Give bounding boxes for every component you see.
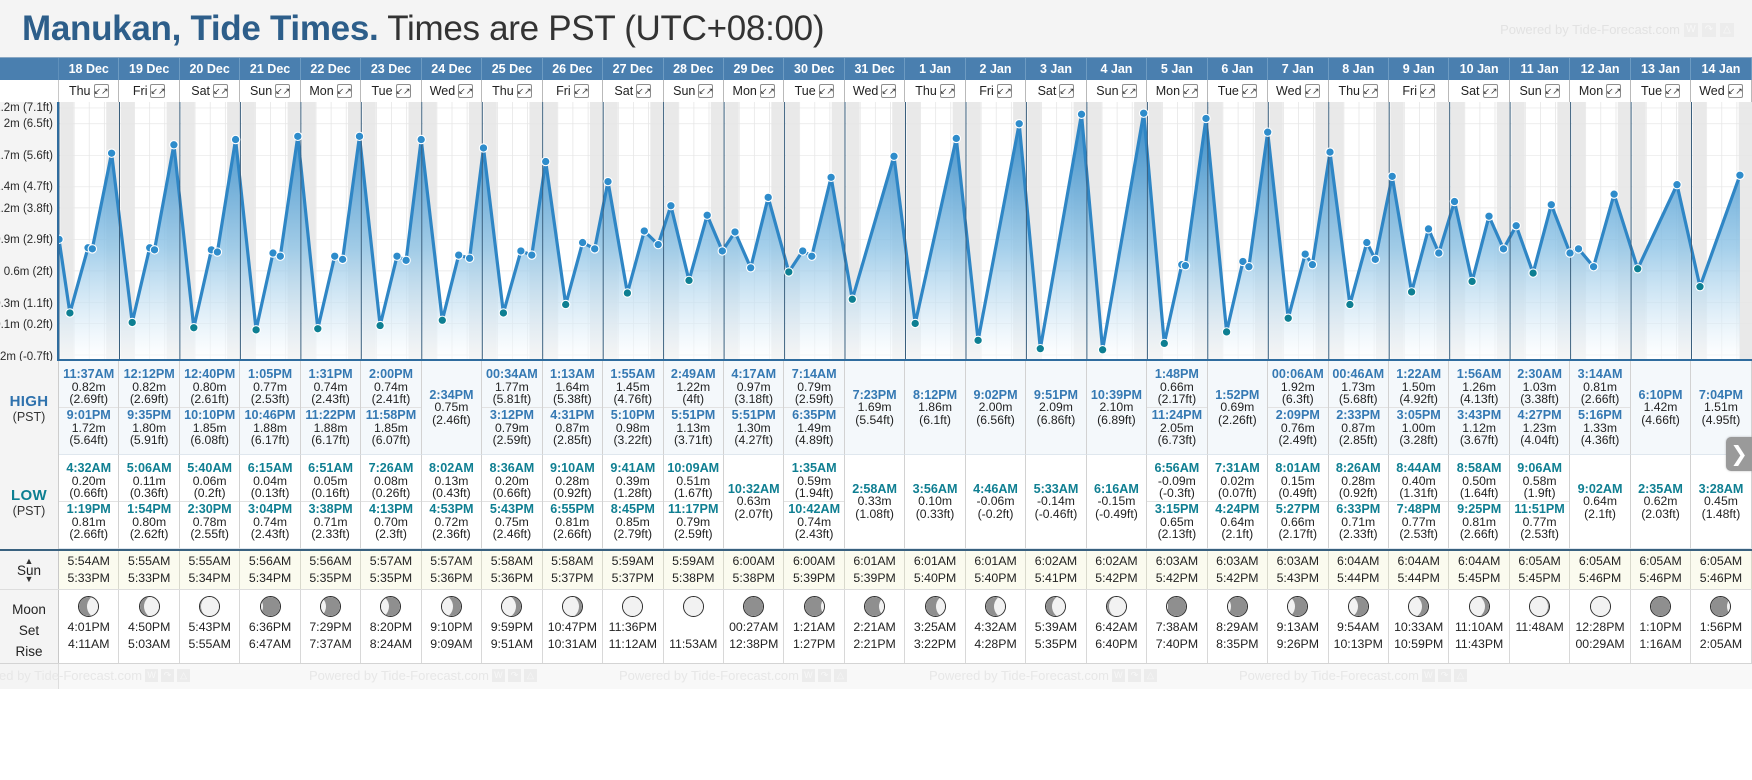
high-tide-cell: 8:12PM1.86m(6.1ft) (905, 361, 965, 455)
weekday-header-cell: Mon↙↗ (724, 80, 784, 102)
tide-time: 7:31AM (1208, 462, 1267, 475)
tide-height-feet: (4.92ft) (1389, 393, 1448, 406)
tide-time: 10:09AM (664, 462, 723, 475)
low-tide-cell: 8:26AM0.28m(0.92ft)6:33PM0.71m(2.33ft) (1329, 455, 1389, 549)
moon-label-text: Moon (12, 599, 46, 620)
expand-day-icon[interactable]: ↙↗ (940, 84, 955, 98)
sun-cell: 5:56AM5:34PM (240, 551, 300, 589)
tide-height-feet: (2.17ft) (1147, 393, 1206, 406)
tide-time: 1:48PM (1147, 368, 1206, 381)
date-header-cell[interactable]: 27 Dec (603, 58, 663, 80)
footer-watermark-text: Powered by Tide-Forecast.com (1239, 668, 1419, 683)
date-header-cell[interactable]: 26 Dec (543, 58, 603, 80)
weekday-header-cells: Thu↙↗Fri↙↗Sat↙↗Sun↙↗Mon↙↗Tue↙↗Wed↙↗Thu↙↗… (59, 80, 1752, 102)
moon-phase-icon (1348, 596, 1369, 617)
moonset-time: 6:42AM (1095, 619, 1137, 636)
tide-height-feet: (0.66ft) (59, 487, 118, 500)
tide-height-feet: (2.33ft) (301, 528, 360, 541)
low-tide-event: 1:54PM0.80m(2.62ft) (119, 501, 178, 542)
expand-day-icon[interactable]: ↙↗ (1606, 84, 1621, 98)
low-tide-cell: 8:44AM0.40m(1.31ft)7:48PM0.77m(2.53ft) (1389, 455, 1449, 549)
tide-height-feet: (5.68ft) (1329, 393, 1388, 406)
moon-cell: 9:10PM9:09AM (422, 590, 482, 663)
date-header-cell[interactable]: 14 Jan (1691, 58, 1751, 80)
tide-height-feet: (-0.3ft) (1147, 487, 1206, 500)
expand-day-icon[interactable]: ↙↗ (1483, 84, 1498, 98)
sun-cell: 5:58AM5:36PM (482, 551, 542, 589)
expand-day-icon[interactable]: ↙↗ (1545, 84, 1560, 98)
expand-day-icon[interactable]: ↙↗ (1665, 84, 1680, 98)
tide-height-feet: (1.67ft) (664, 487, 723, 500)
weekday-label: Mon (733, 84, 757, 98)
weekday-label: Sat (191, 84, 210, 98)
tide-height-feet: (1.28ft) (603, 487, 662, 500)
tide-time: 8:58AM (1449, 462, 1508, 475)
sun-cell: 6:02AM5:42PM (1087, 551, 1147, 589)
tide-height-feet: (2.59ft) (784, 393, 843, 406)
sun-row: ▲ Sun ▼ 5:54AM5:33PM5:55AM5:33PM5:55AM5:… (0, 549, 1752, 589)
sunrise-time: 6:02AM (1095, 553, 1137, 570)
sunset-time: 5:39PM (853, 570, 895, 587)
watermark-glyph-1-icon: W (1422, 669, 1435, 682)
moon-cell: 11:48AM (1510, 590, 1570, 663)
expand-day-icon[interactable]: ↙↗ (1059, 84, 1074, 98)
moonset-time: 11:36PM (609, 619, 657, 636)
low-tide-event: 11:51PM0.77m(2.53ft) (1510, 501, 1569, 542)
moonset-time: 8:20PM (370, 619, 412, 636)
sun-cell: 6:05AM5:46PM (1631, 551, 1691, 589)
moon-phase-icon (683, 596, 704, 617)
tide-time: 00:46AM (1329, 368, 1388, 381)
moonrise-time: 10:31AM (548, 636, 597, 653)
sun-cell: 6:03AM5:42PM (1147, 551, 1207, 589)
low-tide-cell: 7:31AM0.02m(0.07ft)4:24PM0.64m(2.1ft) (1208, 455, 1268, 549)
moon-set-label: Set (19, 620, 39, 641)
high-tide-event: 6:35PM1.49m(4.89ft) (784, 407, 843, 448)
moon-phase-icon (441, 596, 462, 617)
date-header-cell[interactable]: 10 Jan (1449, 58, 1509, 80)
sun-cell: 5:55AM5:33PM (119, 551, 179, 589)
tide-height-feet: (2.53ft) (240, 393, 299, 406)
moonrise-time: 8:24AM (370, 636, 412, 653)
low-tide-cell: 6:16AM-0.15m(-0.49ft) (1087, 455, 1147, 549)
weekday-label: Wed (853, 84, 878, 98)
moonrise-time: 5:03AM (128, 636, 170, 653)
tide-time: 3:12PM (482, 409, 541, 422)
tide-time: 9:35PM (119, 409, 178, 422)
expand-day-icon[interactable]: ↙↗ (760, 84, 775, 98)
tide-height-feet: (-0.46ft) (1026, 508, 1085, 521)
weekday-header-cell: Mon↙↗ (301, 80, 361, 102)
tide-time: 9:06AM (1510, 462, 1569, 475)
tide-height-feet: (4.66ft) (1631, 414, 1690, 427)
header-watermark: Powered by Tide-Forecast.com W ↷ △ (1500, 22, 1734, 37)
tide-time: 11:37AM (59, 368, 118, 381)
page-header: Manukan, Tide Times. Times are PST (UTC+… (0, 0, 1752, 57)
weekday-header-cell: Tue↙↗ (361, 80, 421, 102)
expand-day-icon[interactable]: ↙↗ (1305, 84, 1320, 98)
high-tide-cell: 4:17AM0.97m(3.18ft)5:51PM1.30m(4.27ft) (724, 361, 784, 455)
expand-day-icon[interactable]: ↙↗ (1242, 84, 1257, 98)
low-tide-event: 5:40AM0.06m(0.2ft) (180, 461, 239, 501)
high-tide-event: 6:10PM1.42m(4.66ft) (1631, 388, 1690, 428)
tide-height-meters: 1.51m (1691, 401, 1750, 414)
date-header-cell[interactable]: 20 Dec (180, 58, 240, 80)
sun-cell: 6:05AM5:46PM (1691, 551, 1751, 589)
y-axis-tick-label: 2.2m (7.1ft) (0, 102, 53, 114)
tide-height-feet: (0.26ft) (361, 487, 420, 500)
high-tide-event: 2:09PM0.76m(2.49ft) (1268, 407, 1327, 448)
date-header-cell[interactable]: 2 Jan (966, 58, 1026, 80)
sunset-time: 5:35PM (309, 570, 351, 587)
moonrise-time: 6:47AM (249, 636, 291, 653)
high-tide-cell: 2:49AM1.22m(4ft)5:51PM1.13m(3.71ft) (664, 361, 724, 455)
date-header-cell[interactable]: 8 Jan (1329, 58, 1389, 80)
high-tide-event: 10:39PM2.10m(6.89ft) (1087, 388, 1146, 428)
date-header-cell[interactable]: 6 Jan (1208, 58, 1268, 80)
sun-cell: 6:01AM5:40PM (966, 551, 1026, 589)
date-header-cell[interactable]: 12 Jan (1570, 58, 1630, 80)
low-tide-event: 3:04PM0.74m(2.43ft) (240, 501, 299, 542)
tide-height-feet: (2.85ft) (1329, 434, 1388, 447)
weekday-header-cell: Fri↙↗ (966, 80, 1026, 102)
moon-phase-icon (1045, 596, 1066, 617)
moon-cell: 9:13AM9:26PM (1268, 590, 1328, 663)
next-days-button[interactable]: ❯ (1726, 437, 1752, 471)
high-tide-event: 2:49AM1.22m(4ft) (664, 367, 723, 407)
moon-cell: 4:01PM4:11AM (59, 590, 119, 663)
low-tide-event: 9:06AM0.58m(1.9ft) (1510, 461, 1569, 501)
date-header-cell[interactable]: 28 Dec (664, 58, 724, 80)
moon-phase-icon (78, 596, 99, 617)
tide-height-feet: (3.38ft) (1510, 393, 1569, 406)
moon-phase-icon (743, 596, 764, 617)
expand-day-icon[interactable]: ↙↗ (1183, 84, 1198, 98)
date-header-cell[interactable]: 11 Jan (1510, 58, 1570, 80)
low-tide-event: 7:31AM0.02m(0.07ft) (1208, 461, 1267, 501)
low-tide-event: 4:13PM0.70m(2.3ft) (361, 501, 420, 542)
weekday-label: Sat (614, 84, 633, 98)
moonrise-time: 9:51AM (491, 636, 533, 653)
date-header-cell[interactable]: 23 Dec (361, 58, 421, 80)
tide-height-feet: (1.31ft) (1389, 487, 1448, 500)
tide-time: 2:30AM (1510, 368, 1569, 381)
expand-day-icon[interactable]: ↙↗ (337, 84, 352, 98)
weekday-header-cell: Tue↙↗ (784, 80, 844, 102)
high-tide-cell: 1:52PM0.69m(2.26ft) (1208, 361, 1268, 455)
tide-height-feet: (2.59ft) (482, 434, 541, 447)
low-tide-cell: 8:02AM0.13m(0.43ft)4:53PM0.72m(2.36ft) (422, 455, 482, 549)
moon-cell: 9:54AM10:13PM (1329, 590, 1389, 663)
high-tide-event: 3:14AM0.81m(2.66ft) (1570, 367, 1629, 407)
tide-height-feet: (0.43ft) (422, 487, 481, 500)
tide-time: 11:51PM (1510, 503, 1569, 516)
footer-watermarks: ed by Tide-Forecast.comW↷△Powered by Tid… (59, 664, 1752, 689)
high-tide-cell: 1:22AM1.50m(4.92ft)3:05PM1.00m(3.28ft) (1389, 361, 1449, 455)
tide-height-meters: 1.42m (1631, 401, 1690, 414)
moonrise-time: 7:37AM (309, 636, 351, 653)
moon-cell: 5:39AM5:35PM (1026, 590, 1086, 663)
weekday-label: Fri (133, 84, 148, 98)
moonrise-time: 7:40PM (1156, 636, 1198, 653)
tide-height-feet: (2.41ft) (361, 393, 420, 406)
moonrise-time: 11:53AM (669, 636, 717, 653)
weekday-header-stub (0, 80, 59, 102)
y-axis-tick-label: 1.4m (4.7ft) (0, 181, 53, 193)
tide-height-feet: (6.3ft) (1268, 393, 1327, 406)
tide-height-feet: (5.81ft) (482, 393, 541, 406)
sunset-time: 5:37PM (612, 570, 654, 587)
high-tide-cell: 9:02PM2.00m(6.56ft) (966, 361, 1026, 455)
tide-time: 6:51AM (301, 462, 360, 475)
low-tide-cell: 3:56AM0.10m(0.33ft) (905, 455, 965, 549)
tide-time: 7:14AM (784, 368, 843, 381)
tide-height-feet: (0.92ft) (543, 487, 602, 500)
tide-time: 5:16PM (1570, 409, 1629, 422)
moonset-time: 7:38AM (1156, 619, 1198, 636)
low-tide-event: 8:36AM0.20m(0.66ft) (482, 461, 541, 501)
moon-cell: 2:21AM2:21PM (845, 590, 905, 663)
weekday-header-cell: Tue↙↗ (1208, 80, 1268, 102)
moon-cell: 7:29PM7:37AM (301, 590, 361, 663)
sun-cell: 5:58AM5:37PM (543, 551, 603, 589)
tide-height-meters: 2.10m (1087, 401, 1146, 414)
high-tide-event: 11:58PM1.85m(6.07ft) (361, 407, 420, 448)
moonrise-time: 5:55AM (188, 636, 230, 653)
sunrise-time: 5:58AM (491, 553, 533, 570)
high-tide-event: 3:05PM1.00m(3.28ft) (1389, 407, 1448, 448)
watermark-glyph-2-icon: ↷ (1438, 669, 1451, 682)
tide-time: 1:56AM (1449, 368, 1508, 381)
expand-day-icon[interactable]: ↙↗ (517, 84, 532, 98)
weekday-header-cell: Thu↙↗ (482, 80, 542, 102)
high-tide-event: 4:27PM1.23m(4.04ft) (1510, 407, 1569, 448)
date-header-cell[interactable]: 19 Dec (119, 58, 179, 80)
low-tide-event: 8:26AM0.28m(0.92ft) (1329, 461, 1388, 501)
high-tide-event: 5:10PM0.98m(3.22ft) (603, 407, 662, 448)
tide-time: 1:35AM (784, 462, 843, 475)
tide-time: 3:14AM (1570, 368, 1629, 381)
moon-phase-icon (1227, 596, 1248, 617)
expand-day-icon[interactable]: ↙↗ (213, 84, 228, 98)
date-header-cell[interactable]: 31 Dec (845, 58, 905, 80)
date-header-cell[interactable]: 4 Jan (1087, 58, 1147, 80)
expand-day-icon[interactable]: ↙↗ (150, 84, 165, 98)
date-header-cell[interactable]: 5 Jan (1147, 58, 1207, 80)
moon-cell: 9:59PM9:51AM (482, 590, 542, 663)
watermark-glyph-2-icon: ↷ (508, 669, 521, 682)
tide-height-meters: 0.64m (1570, 495, 1629, 508)
weekday-label: Tue (795, 84, 816, 98)
weekday-label: Wed (430, 84, 455, 98)
weekday-label: Tue (1218, 84, 1239, 98)
low-tide-event: 5:27PM0.66m(2.17ft) (1268, 501, 1327, 542)
moon-phase-icon (1106, 596, 1127, 617)
moon-cell: 8:20PM8:24AM (361, 590, 421, 663)
tide-height-feet: (2.66ft) (1570, 393, 1629, 406)
moonset-time: 7:29PM (309, 619, 351, 636)
tide-time: 6:56AM (1147, 462, 1206, 475)
date-header-cell[interactable]: 30 Dec (784, 58, 844, 80)
sun-cell: 5:59AM5:38PM (664, 551, 724, 589)
low-tide-event: 6:16AM-0.15m(-0.49ft) (1087, 482, 1146, 522)
low-tide-event: 6:51AM0.05m(0.16ft) (301, 461, 360, 501)
date-header-cell[interactable]: 7 Jan (1268, 58, 1328, 80)
moon-phase-icon (199, 596, 220, 617)
low-tide-event: 1:35AM0.59m(1.94ft) (784, 461, 843, 501)
expand-day-icon[interactable]: ↙↗ (1420, 84, 1435, 98)
low-tide-label-sub: (PST) (13, 504, 46, 518)
sun-cell: 6:01AM5:39PM (845, 551, 905, 589)
page-title: Manukan, Tide Times. Times are PST (UTC+… (22, 6, 1752, 52)
moonset-time: 12:28PM (1575, 619, 1624, 636)
moon-cell: 4:32AM4:28PM (966, 590, 1026, 663)
tide-time: 8:45PM (603, 503, 662, 516)
date-header-cell[interactable]: 29 Dec (724, 58, 784, 80)
high-tide-cell: 2:30AM1.03m(3.38ft)4:27PM1.23m(4.04ft) (1510, 361, 1570, 455)
low-tide-event: 2:35AM0.62m(2.03ft) (1631, 482, 1690, 522)
high-tide-cell: 12:12PM0.82m(2.69ft)9:35PM1.80m(5.91ft) (119, 361, 179, 455)
expand-day-icon[interactable]: ↙↗ (881, 84, 896, 98)
tide-height-feet: (0.33ft) (905, 508, 964, 521)
low-tide-cell: 6:15AM0.04m(0.13ft)3:04PM0.74m(2.43ft) (240, 455, 300, 549)
low-tide-event: 1:19PM0.81m(2.66ft) (59, 501, 118, 542)
low-tide-cell: 6:56AM-0.09m(-0.3ft)3:15PM0.65m(2.13ft) (1147, 455, 1207, 549)
date-header-cell[interactable]: 21 Dec (240, 58, 300, 80)
y-axis-tick-label: 2m (6.5ft) (4, 118, 53, 130)
moon-phase-icon (925, 596, 946, 617)
weekday-label: Tue (371, 84, 392, 98)
low-tide-cell: 4:46AM-0.06m(-0.2ft) (966, 455, 1026, 549)
high-tide-event: 9:02PM2.00m(6.56ft) (966, 388, 1025, 428)
date-header-cell[interactable]: 22 Dec (301, 58, 361, 80)
sun-cell: 5:57AM5:35PM (361, 551, 421, 589)
low-tide-cell: 1:35AM0.59m(1.94ft)10:42AM0.74m(2.43ft) (784, 455, 844, 549)
date-header-cell[interactable]: 13 Jan (1631, 58, 1691, 80)
low-tide-cell: 9:06AM0.58m(1.9ft)11:51PM0.77m(2.53ft) (1510, 455, 1570, 549)
low-tide-event: 10:42AM0.74m(2.43ft) (784, 501, 843, 542)
sunset-time: 5:46PM (1639, 570, 1681, 587)
moon-phase-icon (320, 596, 341, 617)
expand-day-icon[interactable]: ↙↗ (819, 84, 834, 98)
moonset-time: 5:43PM (188, 619, 230, 636)
expand-day-icon[interactable]: ↙↗ (574, 84, 589, 98)
tide-time: 10:46PM (240, 409, 299, 422)
sunrise-time: 6:01AM (974, 553, 1016, 570)
expand-day-icon[interactable]: ↙↗ (1122, 84, 1137, 98)
moon-cell: 4:50PM5:03AM (119, 590, 179, 663)
expand-day-icon[interactable]: ↙↗ (997, 84, 1012, 98)
high-tide-event: 00:06AM1.92m(6.3ft) (1268, 367, 1327, 407)
date-header-cell[interactable]: 9 Jan (1389, 58, 1449, 80)
tide-height-feet: (3.28ft) (1389, 434, 1448, 447)
tide-height-feet: (2.49ft) (1268, 434, 1327, 447)
sun-cell: 5:55AM5:34PM (180, 551, 240, 589)
sun-cell: 6:03AM5:42PM (1208, 551, 1268, 589)
low-tide-event: 3:38PM0.71m(2.33ft) (301, 501, 360, 542)
y-axis-tick-label: 1.7m (5.6ft) (0, 150, 53, 162)
tide-height-feet: (6.17ft) (240, 434, 299, 447)
high-tide-row: HIGH (PST) 11:37AM0.82m(2.69ft)9:01PM1.7… (0, 361, 1752, 455)
low-tide-event: 6:55PM0.81m(2.66ft) (543, 501, 602, 542)
expand-day-icon[interactable]: ↙↗ (1728, 84, 1743, 98)
high-tide-event: 10:46PM1.88m(6.17ft) (240, 407, 299, 448)
expand-day-icon[interactable]: ↙↗ (698, 84, 713, 98)
high-tide-cell: 1:55AM1.45m(4.76ft)5:10PM0.98m(3.22ft) (603, 361, 663, 455)
date-header-cell[interactable]: 18 Dec (59, 58, 119, 80)
sunset-time: 5:33PM (128, 570, 170, 587)
date-header-cell[interactable]: 1 Jan (905, 58, 965, 80)
high-tide-event: 10:10PM1.85m(6.08ft) (180, 407, 239, 448)
date-header-stub (0, 58, 59, 80)
tide-height-feet: (4.27ft) (724, 434, 783, 447)
high-tide-event: 3:12PM0.79m(2.59ft) (482, 407, 541, 448)
tide-time: 00:06AM (1268, 368, 1327, 381)
sunrise-time: 6:02AM (1035, 553, 1077, 570)
expand-day-icon[interactable]: ↙↗ (458, 84, 473, 98)
tide-height-meters: 0.10m (905, 495, 964, 508)
weekday-label: Thu (1338, 84, 1360, 98)
high-tide-cell: 00:46AM1.73m(5.68ft)2:33PM0.87m(2.85ft) (1329, 361, 1389, 455)
sunset-time: 5:38PM (672, 570, 714, 587)
date-header-cell[interactable]: 24 Dec (422, 58, 482, 80)
expand-day-icon[interactable]: ↙↗ (396, 84, 411, 98)
tide-height-feet: (1.94ft) (784, 487, 843, 500)
moon-phase-icon (139, 596, 160, 617)
expand-day-icon[interactable]: ↙↗ (94, 84, 109, 98)
moon-phase-icon (1166, 596, 1187, 617)
moonset-time: 4:50PM (128, 619, 170, 636)
moon-label: Moon Set Rise (0, 590, 59, 663)
tide-height-feet: (2.46ft) (422, 414, 481, 427)
high-tide-event: 9:01PM1.72m(5.64ft) (59, 407, 118, 448)
date-header-cell[interactable]: 25 Dec (482, 58, 542, 80)
moon-cell: 8:29AM8:35PM (1208, 590, 1268, 663)
sunset-time: 5:44PM (1398, 570, 1440, 587)
moon-phase-icon (622, 596, 643, 617)
low-tide-cell: 2:35AM0.62m(2.03ft) (1631, 455, 1691, 549)
tide-height-feet: (6.07ft) (361, 434, 420, 447)
tide-time: 5:27PM (1268, 503, 1327, 516)
tide-time: 7:48PM (1389, 503, 1448, 516)
moon-phase-icon (864, 596, 885, 617)
sunset-time: 5:46PM (1579, 570, 1621, 587)
tide-height-feet: (2.59ft) (664, 528, 723, 541)
moon-phase-icon (501, 596, 522, 617)
sunrise-time: 5:58AM (551, 553, 593, 570)
moonset-time: 9:13AM (1277, 619, 1319, 636)
date-header-cell[interactable]: 3 Jan (1026, 58, 1086, 80)
sunset-time: 5:40PM (974, 570, 1016, 587)
tide-height-feet: (0.36ft) (119, 487, 178, 500)
tide-height-feet: (6.73ft) (1147, 434, 1206, 447)
expand-day-icon[interactable]: ↙↗ (636, 84, 651, 98)
high-tide-event: 2:33PM0.87m(2.85ft) (1329, 407, 1388, 448)
tide-height-meters: 0.69m (1208, 401, 1267, 414)
weekday-header-cell: Sun↙↗ (1510, 80, 1570, 102)
moon-phase-icon (1529, 596, 1550, 617)
expand-day-icon[interactable]: ↙↗ (1363, 84, 1378, 98)
tide-time: 9:10AM (543, 462, 602, 475)
high-tide-event: 7:23PM1.69m(5.54ft) (845, 388, 904, 428)
low-tide-event: 4:32AM0.20m(0.66ft) (59, 461, 118, 501)
low-tide-cell: 5:33AM-0.14m(-0.46ft) (1026, 455, 1086, 549)
moon-cell: 11:36PM11:12AM (603, 590, 663, 663)
tide-height-meters: 0.75m (422, 401, 481, 414)
tide-time: 6:35PM (784, 409, 843, 422)
expand-day-icon[interactable]: ↙↗ (275, 84, 290, 98)
sunset-time: 5:46PM (1700, 570, 1742, 587)
